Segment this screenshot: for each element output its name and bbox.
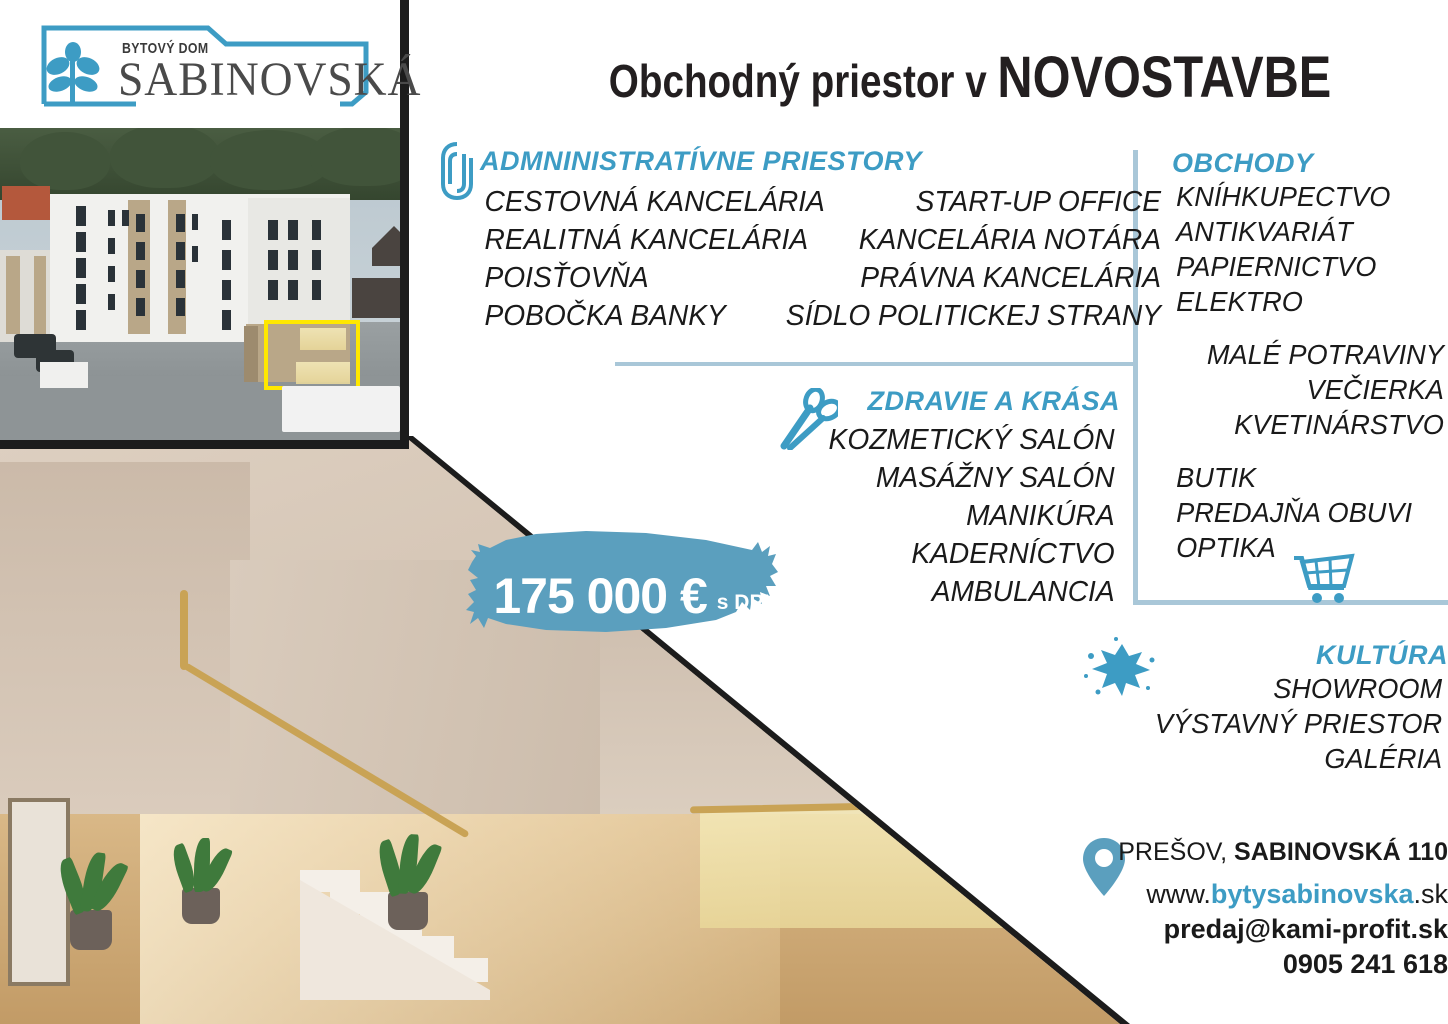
render-door <box>8 798 70 986</box>
photo-building-accent <box>6 256 20 334</box>
photo-window <box>122 210 129 226</box>
photo-window <box>192 214 198 230</box>
render-plant-pot <box>388 892 428 930</box>
address-street: SABINOVSKÁ 110 <box>1234 838 1448 866</box>
photo-window <box>108 238 115 254</box>
photo-shop-window <box>296 362 350 384</box>
list-item: KOZMETICKÝ SALÓN <box>765 421 1114 459</box>
logo-title: SABINOVSKÁ <box>118 52 421 107</box>
render-handrail-post <box>180 590 188 670</box>
photo-window <box>108 210 115 226</box>
shops-group-1: KNÍHKUPECTVO ANTIKVARIÁT PAPIERNICTVO EL… <box>1172 179 1448 319</box>
photo-sign <box>40 362 88 388</box>
photo-window <box>136 298 145 316</box>
page-title: Obchodný priestor v NOVOSTAVBE <box>520 42 1420 114</box>
list-item: VEČIERKA <box>1176 372 1444 407</box>
photo-window <box>222 280 231 300</box>
photo-dark-house <box>352 278 409 318</box>
list-item: KVETINÁRSTVO <box>1176 407 1444 442</box>
admin-column-left: CESTOVNÁ KANCELÁRIA REALITNÁ KANCELÁRIA … <box>480 183 780 335</box>
list-item: BUTIK <box>1176 460 1444 495</box>
section-health-beauty: ZDRAVIE A KRÁSA KOZMETICKÝ SALÓN MASÁŽNY… <box>760 386 1120 611</box>
price-amount: 175 000 € <box>493 567 706 625</box>
brand-logo: BYTOVÝ DOM SABINOVSKÁ <box>40 22 370 108</box>
website-prefix: www. <box>1146 879 1211 909</box>
list-item: ELEKTRO <box>1176 284 1444 319</box>
photo-window <box>176 242 185 260</box>
headline-part1: Obchodný priestor v <box>609 55 998 107</box>
divider-horizontal-shops <box>1133 600 1448 605</box>
divider-horizontal-admin <box>615 362 1133 366</box>
render-plant-pot <box>70 910 112 950</box>
photo-window <box>192 246 198 262</box>
address-line: PREŠOV, SABINOVSKÁ 110 <box>1060 838 1448 867</box>
photo-window <box>312 220 321 240</box>
photo-window <box>76 258 86 278</box>
list-item: POISŤOVŇA <box>485 259 776 297</box>
phone-number[interactable]: 0905 241 618 <box>1060 949 1448 980</box>
list-item: SHOWROOM <box>1066 671 1442 706</box>
photo-window <box>312 280 321 300</box>
section-administrative: ADMNINISTRATÍVNE PRIESTORY CESTOVNÁ KANC… <box>480 146 1120 335</box>
photo-window <box>222 250 231 270</box>
logo-panel: BYTOVÝ DOM SABINOVSKÁ <box>0 0 409 128</box>
photo-window <box>76 310 86 330</box>
photo-window <box>108 266 115 282</box>
photo-window <box>176 214 185 232</box>
section-culture: KULTÚRA SHOWROOM VÝSTAVNÝ PRIESTOR GALÉR… <box>1060 640 1448 776</box>
paperclip-icon <box>437 140 477 202</box>
website-tld: .sk <box>1413 879 1448 909</box>
sprout-icon <box>44 42 102 106</box>
list-item: KADERNÍCTVO <box>765 535 1114 573</box>
photo-red-house <box>2 186 50 220</box>
list-item: POBOČKA BANKY <box>485 297 776 335</box>
photo-building-accent <box>244 326 258 382</box>
photo-shop-window <box>300 328 346 350</box>
price-badge: 175 000 € s DPH <box>466 528 806 664</box>
list-item: PAPIERNICTVO <box>1176 249 1444 284</box>
list-item: MANIKÚRA <box>765 497 1114 535</box>
list-item: MASÁŽNY SALÓN <box>765 459 1114 497</box>
section-title-shops: OBCHODY <box>1172 148 1448 179</box>
section-title-culture: KULTÚRA <box>1060 640 1448 671</box>
list-item: KNÍHKUPECTVO <box>1176 179 1444 214</box>
list-item: CESTOVNÁ KANCELÁRIA <box>485 183 776 221</box>
photo-window <box>136 214 145 232</box>
photo-window <box>268 280 278 300</box>
aerial-building-photo <box>0 128 409 449</box>
price-vat-note: s DPH <box>717 591 779 615</box>
photo-window <box>288 250 298 270</box>
photo-truck <box>282 386 400 432</box>
section-title-health-beauty: ZDRAVIE A KRÁSA <box>760 386 1120 417</box>
list-item: ANTIKVARIÁT <box>1176 214 1444 249</box>
website-link[interactable]: www.bytysabinovska.sk <box>1060 879 1448 910</box>
admin-column-right: START-UP OFFICE KANCELÁRIA NOTÁRA PRÁVNA… <box>780 183 1167 335</box>
photo-window <box>108 294 115 310</box>
headline-part2: NOVOSTAVBE <box>997 45 1331 110</box>
photo-window <box>176 298 185 316</box>
render-glass-balustrade <box>700 808 1120 928</box>
list-item: MALÉ POTRAVINY <box>1176 337 1444 372</box>
contact-block: PREŠOV, SABINOVSKÁ 110 www.bytysabinovsk… <box>1060 838 1448 980</box>
photo-window <box>76 232 86 252</box>
photo-tree <box>110 128 220 188</box>
photo-window <box>76 206 86 226</box>
website-domain: bytysabinovska <box>1211 879 1414 909</box>
photo-window <box>136 242 145 260</box>
photo-tree <box>310 128 409 186</box>
photo-window <box>176 270 185 288</box>
list-item: VÝSTAVNÝ PRIESTOR <box>1066 706 1442 741</box>
photo-window <box>268 250 278 270</box>
list-item: AMBULANCIA <box>765 573 1114 611</box>
photo-window <box>222 310 231 330</box>
section-shops: OBCHODY KNÍHKUPECTVO ANTIKVARIÁT PAPIERN… <box>1172 148 1448 583</box>
list-item: KANCELÁRIA NOTÁRA <box>786 221 1161 259</box>
photo-window <box>76 284 86 304</box>
photo-tree <box>20 132 110 190</box>
photo-window <box>288 280 298 300</box>
photo-window <box>288 220 298 240</box>
health-items: KOZMETICKÝ SALÓN MASÁŽNY SALÓN MANIKÚRA … <box>760 421 1120 611</box>
photo-window <box>136 270 145 288</box>
shops-group-2: MALÉ POTRAVINY VEČIERKA KVETINÁRSTVO <box>1172 337 1448 442</box>
list-item: START-UP OFFICE <box>786 183 1161 221</box>
shopping-cart-icon <box>1292 552 1356 604</box>
shops-group-3: BUTIK PREDAJŇA OBUVI OPTIKA <box>1172 460 1448 565</box>
photo-window <box>312 250 321 270</box>
list-item: GALÉRIA <box>1066 741 1442 776</box>
list-item: PRÁVNA KANCELÁRIA <box>786 259 1161 297</box>
price-text-wrap: 175 000 € s DPH <box>466 528 806 664</box>
list-item: PREDAJŇA OBUVI <box>1176 495 1444 530</box>
poster-canvas: BYTOVÝ DOM SABINOVSKÁ Obchodný priestor … <box>0 0 1448 1024</box>
render-plant-pot <box>182 888 220 924</box>
email-link[interactable]: predaj@kami-profit.sk <box>1060 914 1448 945</box>
photo-window <box>268 220 278 240</box>
photo-building-accent <box>34 256 46 334</box>
photo-window <box>222 220 231 240</box>
section-title-administrative: ADMNINISTRATÍVNE PRIESTORY <box>480 146 1120 177</box>
list-item: SÍDLO POLITICKEJ STRANY <box>786 297 1161 335</box>
address-city: PREŠOV, <box>1118 838 1234 866</box>
list-item: REALITNÁ KANCELÁRIA <box>485 221 776 259</box>
